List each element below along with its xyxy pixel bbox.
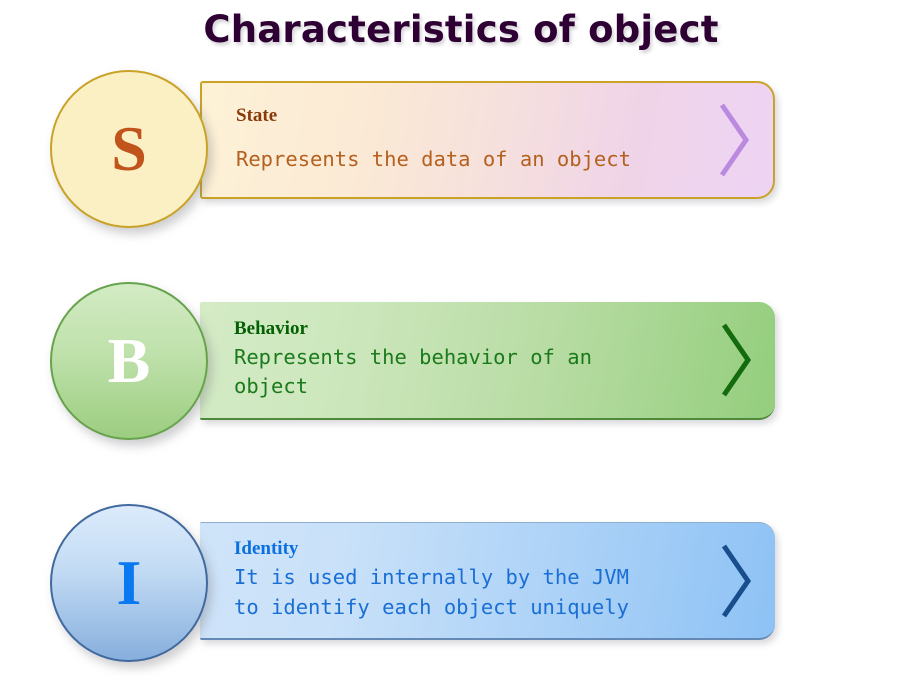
- identity-bar[interactable]: Identity It is used internally by the JV…: [200, 522, 775, 640]
- state-badge-circle[interactable]: S: [50, 70, 208, 228]
- chevron-right-icon: [719, 320, 753, 400]
- state-body: Represents the data of an object: [236, 145, 726, 174]
- behavior-heading: Behavior: [234, 319, 724, 338]
- identity-body: It is used internally by the JVM to iden…: [234, 563, 724, 621]
- behavior-badge-letter: B: [108, 329, 151, 393]
- state-badge-letter: S: [111, 117, 147, 181]
- slide-canvas: Characteristics of object State Represen…: [0, 0, 922, 680]
- state-text-block: State Represents the data of an object: [236, 83, 726, 197]
- identity-badge-circle[interactable]: I: [50, 504, 208, 662]
- characteristic-row-identity: Identity It is used internally by the JV…: [0, 504, 922, 662]
- behavior-badge-circle[interactable]: B: [50, 282, 208, 440]
- behavior-text-block: Behavior Represents the behavior of an o…: [234, 302, 724, 418]
- behavior-bar[interactable]: Behavior Represents the behavior of an o…: [200, 302, 775, 420]
- characteristic-row-state: State Represents the data of an object S: [0, 70, 922, 220]
- characteristic-row-behavior: Behavior Represents the behavior of an o…: [0, 282, 922, 440]
- state-heading: State: [236, 106, 726, 125]
- identity-text-block: Identity It is used internally by the JV…: [234, 523, 724, 638]
- identity-heading: Identity: [234, 539, 724, 558]
- state-bar[interactable]: State Represents the data of an object: [200, 81, 775, 199]
- behavior-body: Represents the behavior of an object: [234, 343, 724, 401]
- chevron-right-icon: [719, 541, 753, 621]
- identity-badge-letter: I: [117, 551, 142, 615]
- page-title: Characteristics of object: [0, 8, 922, 51]
